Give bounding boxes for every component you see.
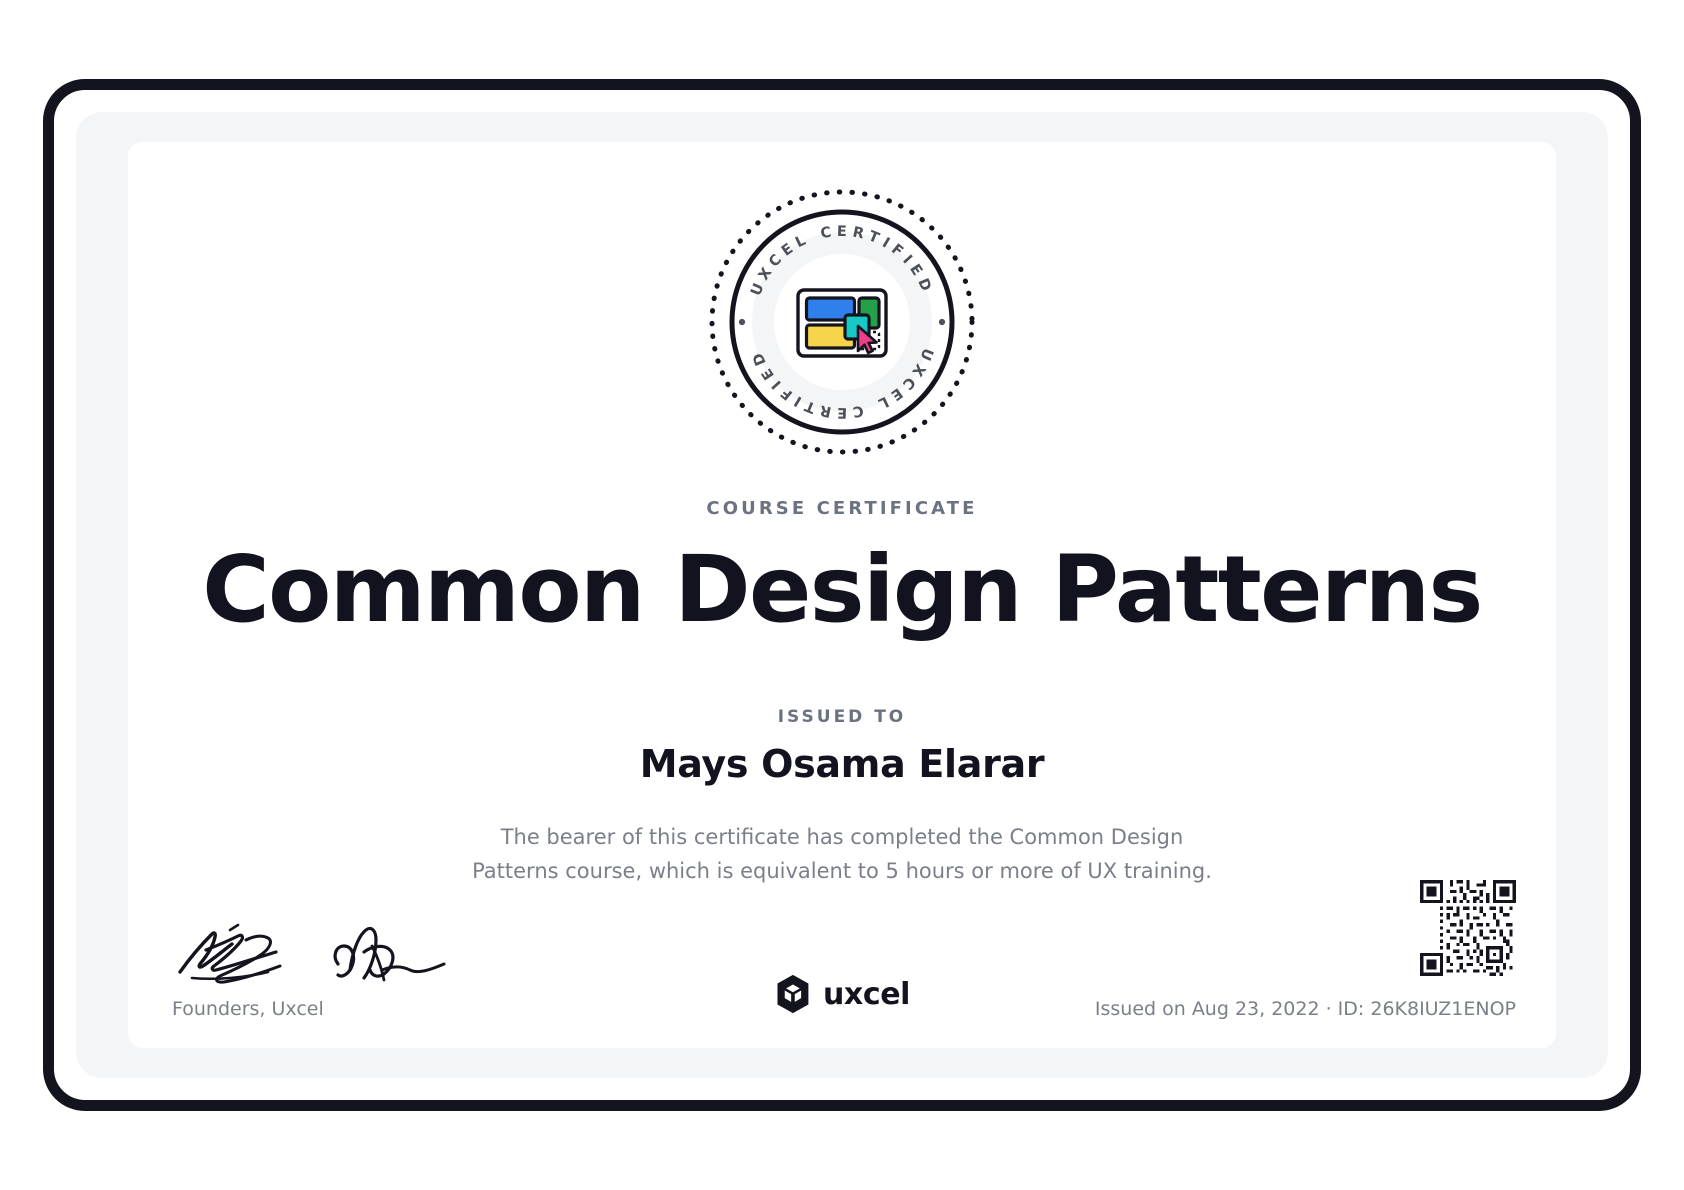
founder-signatures-icon bbox=[172, 906, 462, 990]
issued-to-label: ISSUED TO bbox=[128, 707, 1556, 727]
certificate-content-card: UXCEL CERTIFIED UXCEL CERTIFIED bbox=[128, 142, 1556, 1048]
seal-svg: UXCEL CERTIFIED UXCEL CERTIFIED bbox=[706, 186, 978, 458]
certificate-footer: Founders, Uxcel uxcel bbox=[168, 880, 1516, 1020]
certificate-type-label: COURSE CERTIFICATE bbox=[128, 498, 1556, 519]
certificate-inner-panel: UXCEL CERTIFIED UXCEL CERTIFIED bbox=[76, 112, 1608, 1078]
uxcel-certified-seal: UXCEL CERTIFIED UXCEL CERTIFIED bbox=[706, 186, 978, 458]
signature-block: Founders, Uxcel bbox=[168, 906, 588, 1020]
certificate-outer-frame: UXCEL CERTIFIED UXCEL CERTIFIED bbox=[43, 79, 1641, 1111]
certificate-meta-block: Issued on Aug 23, 2022 · ID: 26K8IUZ1ENO… bbox=[1095, 880, 1516, 1020]
design-patterns-layout-icon bbox=[798, 290, 886, 356]
signature-caption: Founders, Uxcel bbox=[172, 998, 588, 1020]
uxcel-wordmark: uxcel bbox=[823, 977, 910, 1012]
course-title: Common Design Patterns bbox=[128, 540, 1556, 639]
recipient-name: Mays Osama Elarar bbox=[128, 742, 1556, 786]
uxcel-cube-logo-icon bbox=[774, 974, 812, 1014]
issue-date-and-id: Issued on Aug 23, 2022 · ID: 26K8IUZ1ENO… bbox=[1095, 998, 1516, 1020]
seal-bullet-left bbox=[739, 319, 745, 325]
seal-bullet-right bbox=[939, 319, 945, 325]
certificate-verification-qr-code[interactable] bbox=[1420, 880, 1516, 976]
certificate-page: UXCEL CERTIFIED UXCEL CERTIFIED bbox=[0, 0, 1684, 1190]
uxcel-brand-logo: uxcel bbox=[774, 974, 910, 1014]
certificate-description: The bearer of this certificate has compl… bbox=[462, 820, 1222, 888]
